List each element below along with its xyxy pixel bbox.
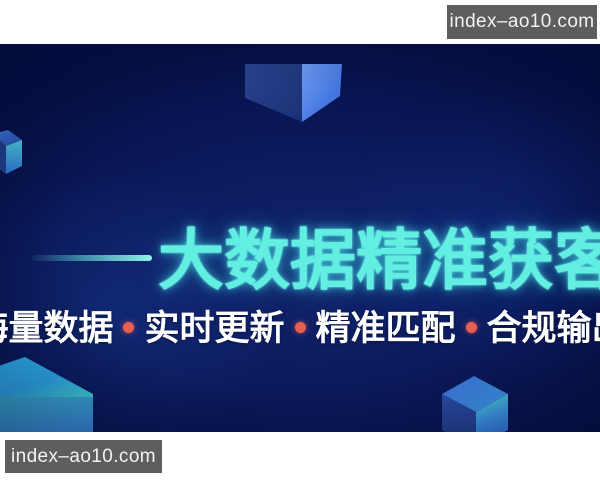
watermark-bottom: index–ao10.com bbox=[5, 440, 162, 473]
accent-dash bbox=[32, 255, 152, 261]
subtitle-separator-dot bbox=[466, 322, 477, 333]
subtitle-item-1: 海量数据 bbox=[0, 300, 113, 351]
subtitle-separator-dot bbox=[295, 322, 306, 333]
subtitle-item-2: 实时更新 bbox=[144, 300, 284, 351]
cube-large-decoration bbox=[0, 349, 140, 432]
subtitle-item-3: 精准匹配 bbox=[316, 300, 456, 351]
banner-subtitle: 海量数据 实时更新 精准匹配 合规输出 bbox=[0, 303, 600, 347]
screenshot-canvas: 大数据精准获客 海量数据 实时更新 精准匹配 合规输出 index–ao10.c… bbox=[0, 0, 600, 480]
subtitle-separator-dot bbox=[123, 322, 134, 333]
cube-hexagon-decoration bbox=[436, 372, 516, 432]
cube-top-decoration bbox=[240, 64, 370, 134]
subtitle-item-4: 合规输出 bbox=[487, 300, 600, 351]
cube-left-small-decoration bbox=[0, 128, 38, 180]
promo-banner: 大数据精准获客 海量数据 实时更新 精准匹配 合规输出 bbox=[0, 44, 600, 432]
watermark-top: index–ao10.com bbox=[447, 5, 597, 39]
banner-headline: 大数据精准获客 bbox=[158, 222, 594, 298]
